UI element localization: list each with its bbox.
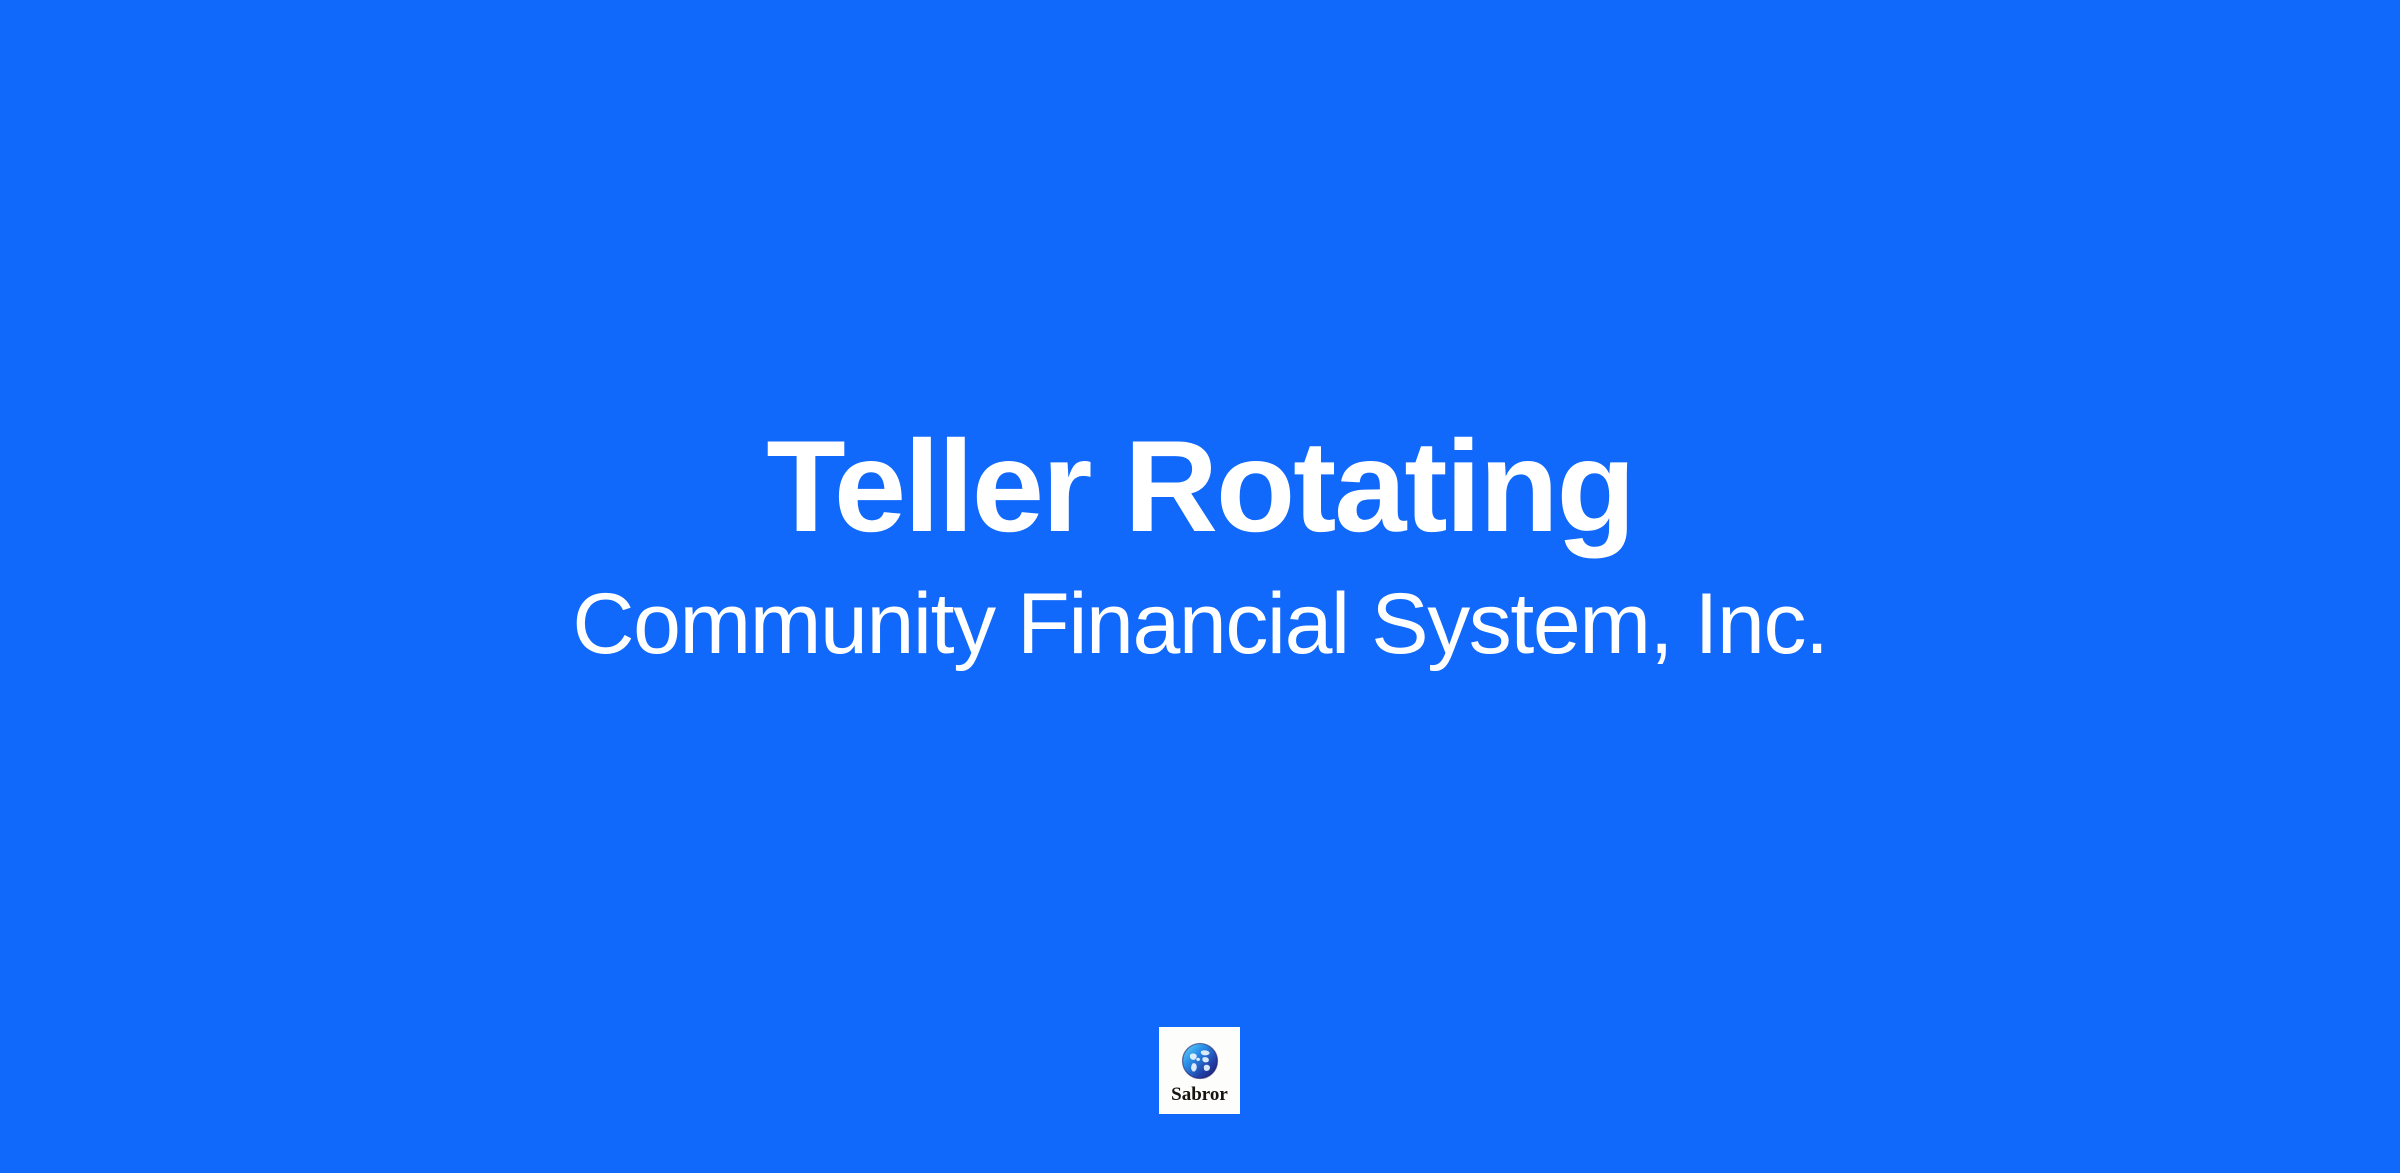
logo-wordmark: Sabror [1171,1085,1228,1104]
hero-text-block: Teller Rotating Community Financial Syst… [0,0,2400,1173]
hero-inner: Teller Rotating Community Financial Syst… [150,421,2250,667]
logo-badge: Sabror [1159,1027,1240,1114]
page-subtitle: Community Financial System, Inc. [150,581,2250,667]
title-slide: Teller Rotating Community Financial Syst… [0,0,2400,1173]
page-title: Teller Rotating [150,421,2250,551]
globe-icon [1180,1041,1220,1081]
